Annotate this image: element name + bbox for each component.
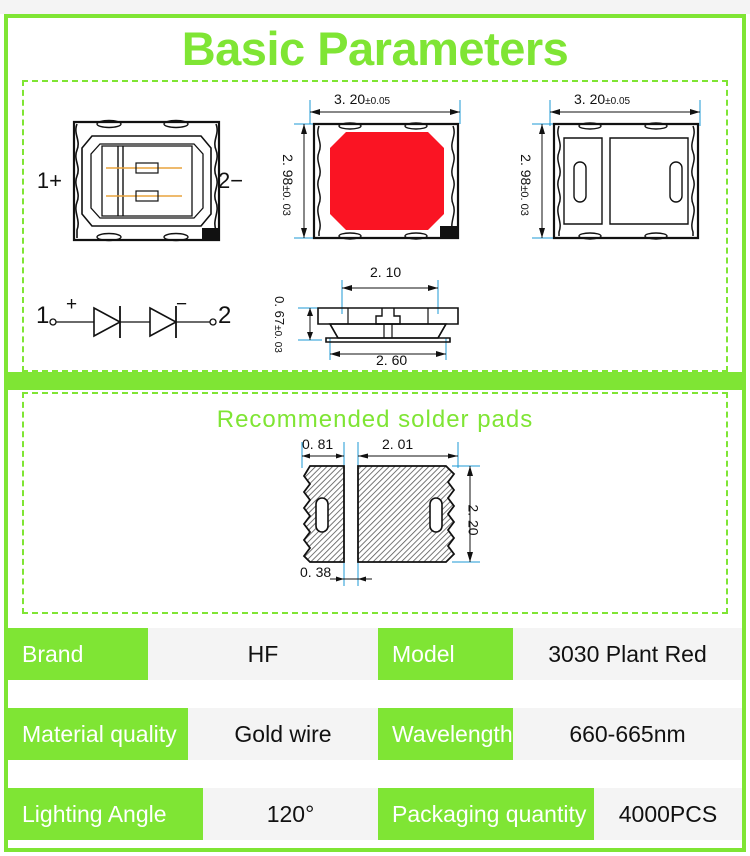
parameter-value-material-quality: Gold wire: [188, 708, 378, 760]
circuit-cathode-minus-label: −: [176, 294, 187, 316]
bottom-view-width-dimension: 3. 20±0.05: [574, 91, 630, 107]
pad-left-width-dimension: 0. 81: [302, 436, 333, 452]
circuit-anode-plus-label: +: [66, 294, 77, 316]
pad-gap-dimension: 0. 38: [300, 564, 331, 580]
parameter-value-lighting-angle: 120°: [203, 788, 378, 840]
front-width-tolerance: ±0.05: [365, 96, 390, 107]
back-height-tolerance: ±0. 03: [518, 185, 530, 216]
front-view-width-dimension: 3. 20±0.05: [334, 91, 390, 107]
parameter-label-packaging-quantity: Packaging quantity: [378, 788, 594, 840]
section-divider-bar: [8, 372, 742, 390]
back-width-tolerance: ±0.05: [605, 96, 630, 107]
side-view-height-dimension: 0. 67±0. 03: [270, 296, 288, 352]
side-height-value: 0. 67: [272, 296, 287, 325]
circuit-terminal-2-label: 2: [218, 302, 231, 330]
parameter-label-lighting-angle: Lighting Angle: [8, 788, 203, 840]
parameter-value-packaging-quantity: 4000PCS: [594, 788, 742, 840]
parameter-label-brand: Brand: [8, 628, 148, 680]
table-cell-packaging-quantity: Packaging quantity 4000PCS: [378, 788, 742, 840]
front-height-value: 2. 98: [280, 154, 296, 185]
side-view-top-width-dimension: 2. 10: [370, 264, 401, 280]
parameter-value-brand: HF: [148, 628, 378, 680]
pin1-label: 1+: [16, 168, 62, 194]
circuit-terminal-1-label: 1: [36, 302, 49, 330]
top-margin-strip: [0, 0, 750, 14]
side-height-tolerance: ±0. 03: [272, 325, 283, 353]
parameter-value-wavelength: 660-665nm: [513, 708, 742, 760]
table-row: Lighting Angle 120° Packaging quantity 4…: [8, 788, 742, 840]
parameter-value-model: 3030 Plant Red: [513, 628, 742, 680]
table-cell-brand: Brand HF: [8, 628, 378, 680]
circuit-schematic-diagram: [34, 288, 240, 344]
front-view-height-dimension: 2. 98±0. 03: [278, 130, 298, 240]
led-bottom-view-diagram: [518, 92, 728, 252]
table-cell-model: Model 3030 Plant Red: [378, 628, 742, 680]
parameter-label-model: Model: [378, 628, 513, 680]
page-title: Basic Parameters: [4, 18, 746, 78]
table-cell-material-quality: Material quality Gold wire: [8, 708, 378, 760]
table-row: Brand HF Model 3030 Plant Red: [8, 628, 742, 680]
front-height-tolerance: ±0. 03: [280, 185, 292, 216]
back-width-value: 3. 20: [574, 91, 605, 107]
pin2-label: 2−: [218, 168, 264, 194]
back-height-value: 2. 98: [518, 154, 534, 185]
bottom-view-height-dimension: 2. 98±0. 03: [516, 130, 536, 240]
table-row: Material quality Gold wire Wavelength 66…: [8, 708, 742, 760]
table-cell-wavelength: Wavelength 660-665nm: [378, 708, 742, 760]
pad-height-dimension: 2. 20: [464, 490, 484, 550]
front-width-value: 3. 20: [334, 91, 365, 107]
led-front-view-diagram: [288, 92, 488, 252]
parameters-table: Brand HF Model 3030 Plant Red Material q…: [8, 624, 742, 850]
side-view-bottom-width-dimension: 2. 60: [376, 352, 407, 368]
table-cell-lighting-angle: Lighting Angle 120°: [8, 788, 378, 840]
datasheet-page: Basic Parameters: [0, 0, 750, 856]
parameter-label-material-quality: Material quality: [8, 708, 188, 760]
pad-right-width-dimension: 2. 01: [382, 436, 413, 452]
parameter-label-wavelength: Wavelength: [378, 708, 513, 760]
solder-pads-heading: Recommended solder pads: [22, 404, 728, 436]
